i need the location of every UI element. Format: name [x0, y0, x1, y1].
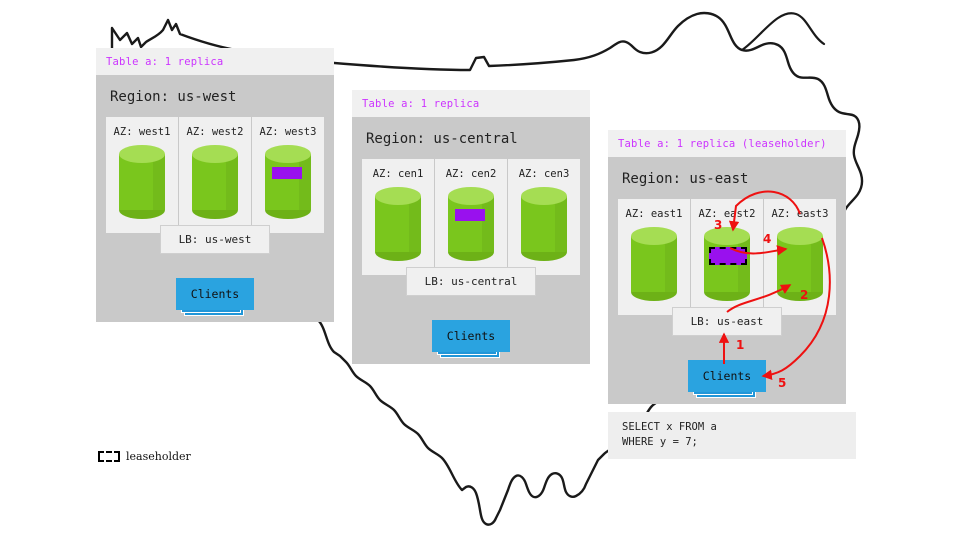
- panel-title-us-west: Table a: 1 replica: [96, 48, 334, 75]
- region-panel-us-central: Table a: 1 replica Region: us-central AZ…: [352, 90, 590, 364]
- clients-group-us-west: Clients: [176, 278, 254, 310]
- diagram-canvas: Table a: 1 replica Region: us-west AZ: w…: [0, 0, 960, 540]
- clients-stack-us-east: Clients: [688, 360, 766, 392]
- panel-body-us-east: Region: us-east AZ: east1 AZ: east2: [608, 157, 846, 404]
- panel-title-us-east: Table a: 1 replica (leaseholder): [608, 130, 846, 157]
- cylinder-west2[interactable]: [192, 145, 238, 219]
- az-cen1[interactable]: AZ: cen1: [362, 159, 435, 275]
- cylinder-top: [631, 227, 677, 245]
- region-panel-us-east: Table a: 1 replica (leaseholder) Region:…: [608, 130, 846, 404]
- cylinder-shade: [482, 196, 494, 252]
- cylinder-top: [777, 227, 823, 245]
- cylinder-top: [448, 187, 494, 205]
- cylinder-shade: [226, 154, 238, 210]
- az-cen3[interactable]: AZ: cen3: [508, 159, 580, 275]
- legend-label-leaseholder: leaseholder: [126, 450, 191, 463]
- cylinder-top: [521, 187, 567, 205]
- sql-query-note: SELECT x FROM a WHERE y = 7;: [608, 412, 856, 459]
- region-label-us-east: Region: us-east: [622, 171, 836, 187]
- load-balancer-us-east[interactable]: LB: us-east: [672, 307, 783, 336]
- clients-stack-us-central: Clients: [432, 320, 510, 352]
- cylinder-top: [704, 227, 750, 245]
- panel-title-us-central: Table a: 1 replica: [352, 90, 590, 117]
- panel-body-us-central: Region: us-central AZ: cen1 AZ: cen2: [352, 117, 590, 364]
- cylinder-shade: [409, 196, 421, 252]
- az-west2[interactable]: AZ: west2: [179, 117, 252, 233]
- cylinder-cen1[interactable]: [375, 187, 421, 261]
- flow-step-number-4: 4: [763, 232, 771, 246]
- cylinder-top: [119, 145, 165, 163]
- flow-step-number-2: 2: [800, 288, 808, 302]
- az-label-cen3: AZ: cen3: [508, 168, 580, 180]
- load-balancer-us-central[interactable]: LB: us-central: [406, 267, 537, 296]
- cylinder-west1[interactable]: [119, 145, 165, 219]
- cylinder-shade: [299, 154, 311, 210]
- panel-body-us-west: Region: us-west AZ: west1 AZ: west2: [96, 75, 334, 322]
- legend: leaseholder: [98, 450, 191, 463]
- region-label-us-central: Region: us-central: [366, 131, 580, 147]
- replica-data-block-cen2: [455, 209, 485, 221]
- clients-button-us-west[interactable]: Clients: [176, 278, 254, 310]
- replica-data-block-west3: [272, 167, 302, 179]
- flow-step-number-3: 3: [714, 218, 722, 232]
- az-west3[interactable]: AZ: west3: [252, 117, 324, 233]
- clients-group-us-east: Clients: [688, 360, 766, 392]
- az-label-west1: AZ: west1: [106, 126, 178, 138]
- replica-data-block-east2-leaseholder: [709, 247, 747, 265]
- az-label-cen2: AZ: cen2: [435, 168, 507, 180]
- cylinder-cen3[interactable]: [521, 187, 567, 261]
- flow-step-number-5: 5: [778, 376, 786, 390]
- cylinder-top: [375, 187, 421, 205]
- az-east1[interactable]: AZ: east1: [618, 199, 691, 315]
- cylinder-shade: [811, 236, 823, 292]
- az-cen2[interactable]: AZ: cen2: [435, 159, 508, 275]
- clients-group-us-central: Clients: [432, 320, 510, 352]
- cylinder-shade: [153, 154, 165, 210]
- az-west1[interactable]: AZ: west1: [106, 117, 179, 233]
- cylinder-top: [192, 145, 238, 163]
- cylinder-west3[interactable]: [265, 145, 311, 219]
- az-label-west3: AZ: west3: [252, 126, 324, 138]
- us-map-northeast-detail: [742, 13, 824, 50]
- az-label-west2: AZ: west2: [179, 126, 251, 138]
- cylinder-top: [265, 145, 311, 163]
- az-label-east3: AZ: east3: [764, 208, 836, 220]
- clients-stack-us-west: Clients: [176, 278, 254, 310]
- az-label-cen1: AZ: cen1: [362, 168, 434, 180]
- az-label-east2: AZ: east2: [691, 208, 763, 220]
- az-row-us-west: AZ: west1 AZ: west2: [106, 117, 324, 233]
- region-panel-us-west: Table a: 1 replica Region: us-west AZ: w…: [96, 48, 334, 322]
- clients-button-us-east[interactable]: Clients: [688, 360, 766, 392]
- cylinder-shade: [665, 236, 677, 292]
- clients-button-us-central[interactable]: Clients: [432, 320, 510, 352]
- leaseholder-swatch-icon: [98, 451, 120, 462]
- region-label-us-west: Region: us-west: [110, 89, 324, 105]
- cylinder-east1[interactable]: [631, 227, 677, 301]
- az-row-us-central: AZ: cen1 AZ: cen2: [362, 159, 580, 275]
- cylinder-cen2[interactable]: [448, 187, 494, 261]
- cylinder-east2[interactable]: [704, 227, 750, 301]
- cylinder-shade: [555, 196, 567, 252]
- load-balancer-us-west[interactable]: LB: us-west: [160, 225, 271, 254]
- az-label-east1: AZ: east1: [618, 208, 690, 220]
- az-east2[interactable]: AZ: east2: [691, 199, 764, 315]
- flow-step-number-1: 1: [736, 338, 744, 352]
